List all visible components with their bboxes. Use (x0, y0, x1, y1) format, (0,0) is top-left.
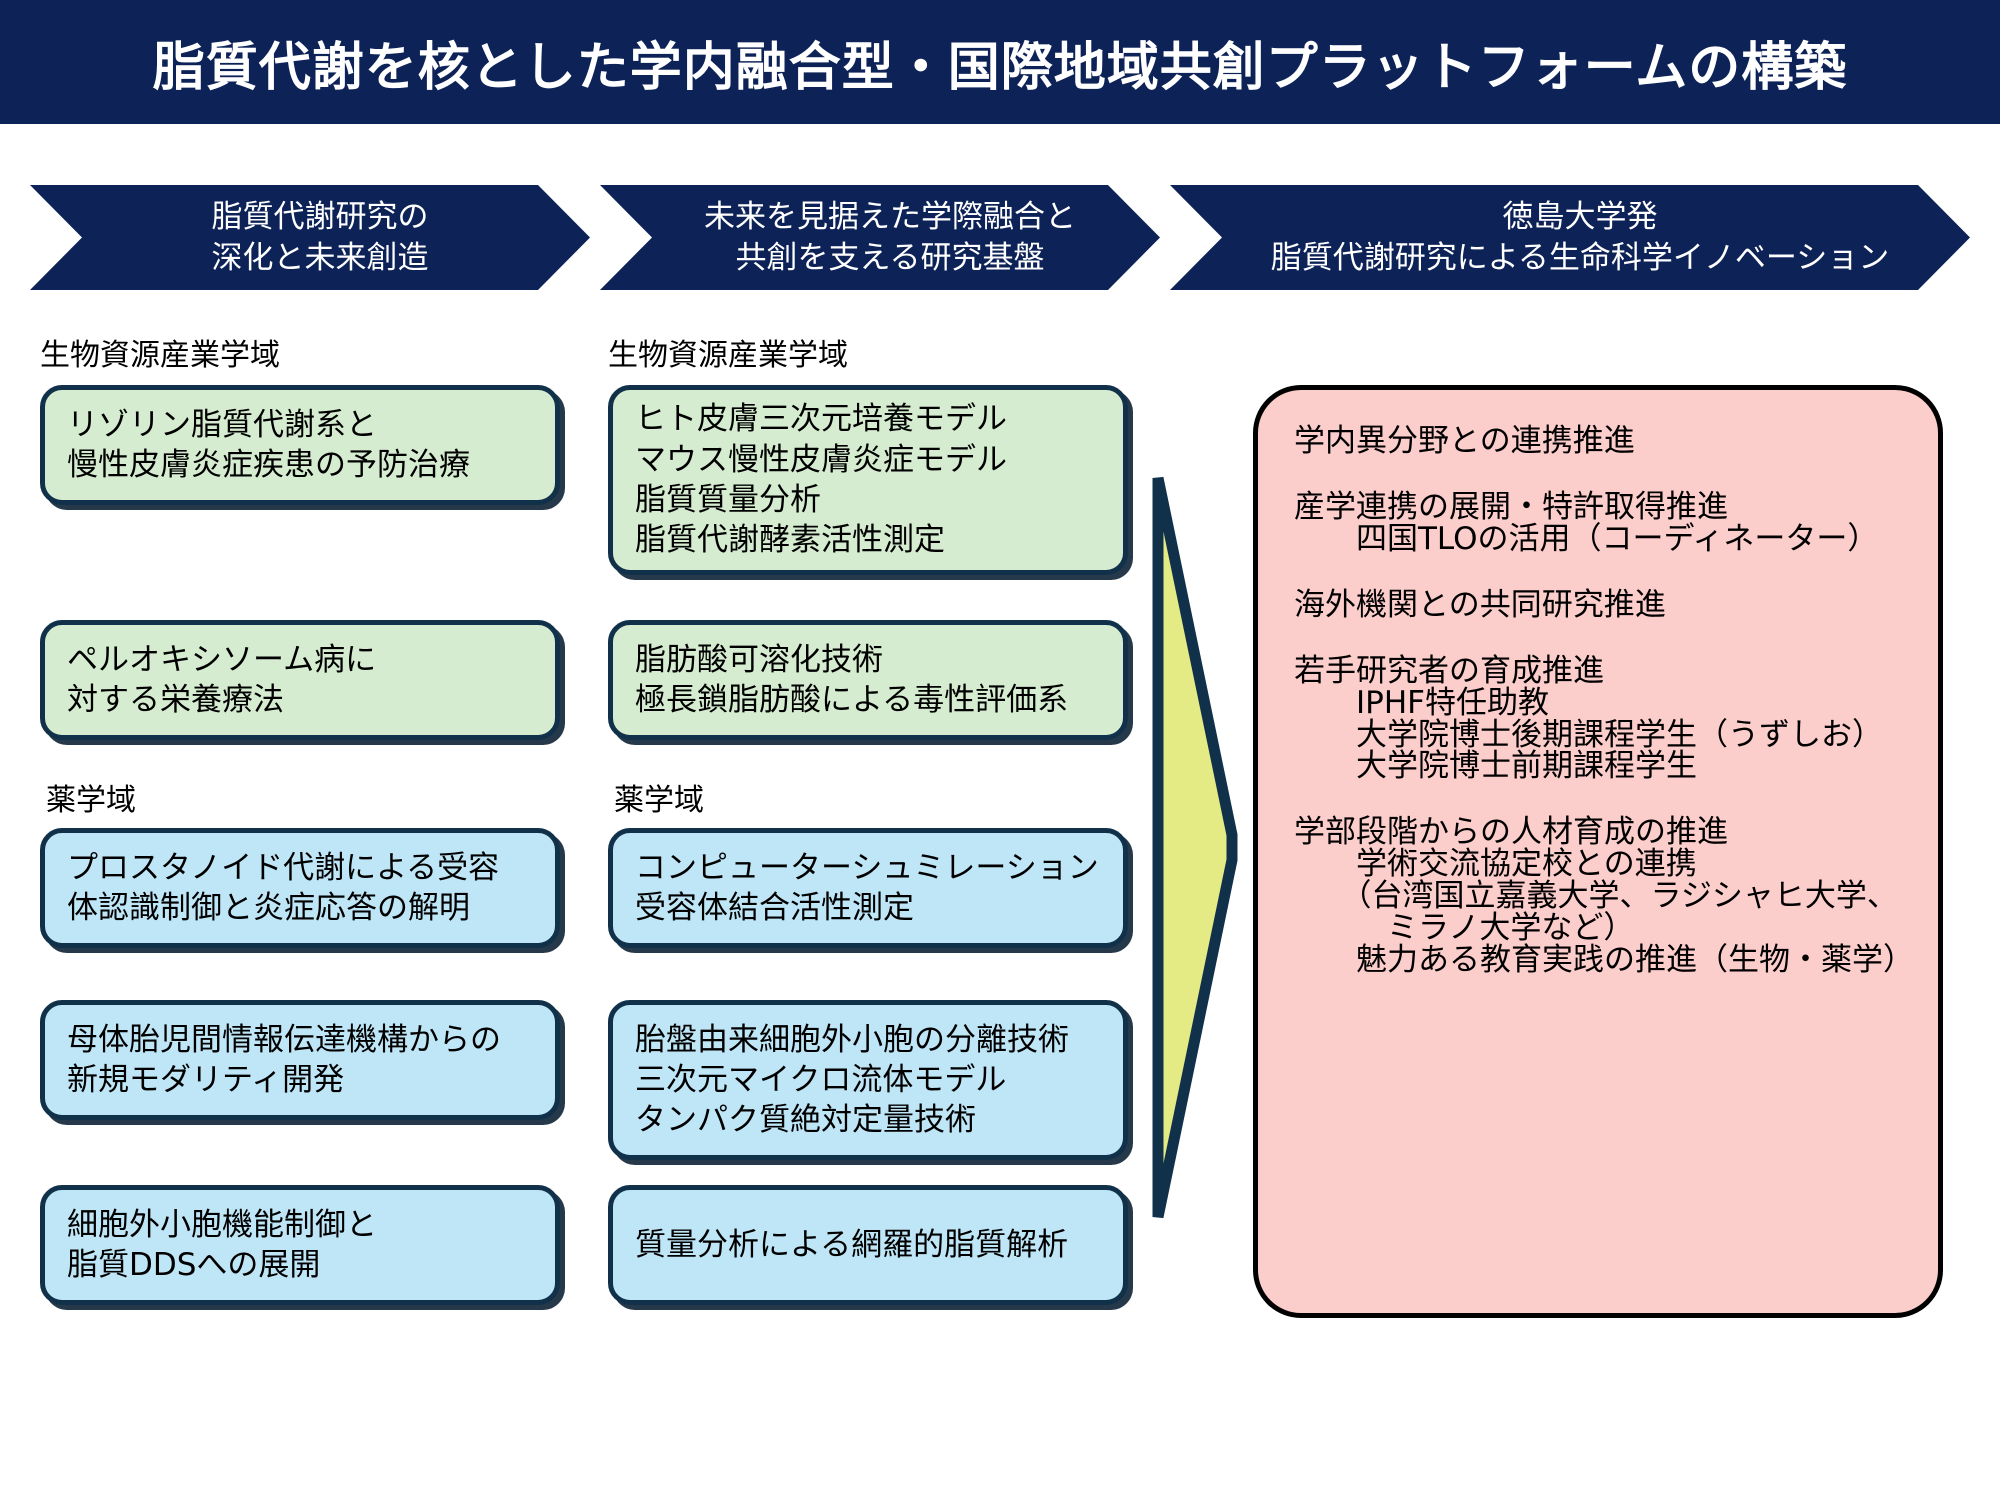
outcome-block-4-line-2: IPHF特任助教 (1294, 688, 1908, 720)
chevron-3-line-1: 徳島大学発 (1271, 197, 1889, 238)
outcome-block-1-line-1: 学内異分野との連携推進 (1294, 426, 1908, 458)
left-box-5-line-1: 細胞外小胞機能制御と (67, 1205, 377, 1245)
left-box-5-line-2: 脂質DDSへの展開 (67, 1245, 377, 1285)
middle-box-3: コンピューターシュミレーション 受容体結合活性測定 (608, 828, 1128, 948)
right-arrow-shape (1150, 470, 1240, 1225)
middle-box-2-line-1: 脂肪酸可溶化技術 (635, 640, 1068, 680)
middle-box-3-line-1: コンピューターシュミレーション (635, 848, 1099, 888)
middle-box-1: ヒト皮膚三次元培養モデル マウス慢性皮膚炎症モデル 脂質質量分析 脂質代謝酵素活… (608, 385, 1128, 575)
middle-column-heading-bioresource: 生物資源産業学域 (608, 330, 848, 374)
outcome-block-5-line-5: 魅力ある教育実践の推進（生物・薬学） (1294, 945, 1908, 977)
page-title: 脂質代謝を核とした学内融合型・国際地域共創プラットフォームの構築 (153, 25, 1847, 100)
outcome-block-2-line-2: 四国TLOの活用（コーディネーター） (1294, 524, 1908, 556)
chevron-2-line-1: 未来を見据えた学際融合と (704, 197, 1076, 238)
left-box-1: リゾリン脂質代謝系と 慢性皮膚炎症疾患の予防治療 (40, 385, 560, 505)
middle-column-heading-pharmacy: 薬学域 (614, 775, 704, 819)
left-box-2-line-1: ペルオキシソーム病に (67, 640, 376, 680)
outcomes-panel: 学内異分野との連携推進 産学連携の展開・特許取得推進 四国TLOの活用（コーディ… (1253, 385, 1943, 1318)
outcome-block-4-line-4: 大学院博士前期課程学生 (1294, 751, 1908, 783)
left-column-heading-bioresource: 生物資源産業学域 (40, 330, 280, 374)
left-box-3-line-1: プロスタノイド代謝による受容 (67, 848, 499, 888)
outcome-block-5-line-3: （台湾国立嘉義大学、ラジシャヒ大学、 (1294, 881, 1908, 913)
chevron-1-line-2: 深化と未来創造 (212, 238, 429, 279)
middle-box-3-line-2: 受容体結合活性測定 (635, 888, 1099, 928)
left-box-3: プロスタノイド代謝による受容 体認識制御と炎症応答の解明 (40, 828, 560, 948)
middle-box-5-line-1: 質量分析による網羅的脂質解析 (635, 1225, 1068, 1265)
middle-box-2: 脂肪酸可溶化技術 極長鎖脂肪酸による毒性評価系 (608, 620, 1128, 740)
middle-box-1-line-3: 脂質質量分析 (635, 480, 1007, 520)
slide-canvas: 脂質代謝を核とした学内融合型・国際地域共創プラットフォームの構築 脂質代謝研究の… (0, 0, 2000, 1500)
spacer-4 (1294, 783, 1908, 817)
outcome-block-4-line-3: 大学院博士後期課程学生（うずしお） (1294, 720, 1908, 752)
left-box-4-line-1: 母体胎児間情報伝達機構からの (67, 1020, 501, 1060)
chevron-stage-1: 脂質代謝研究の 深化と未来創造 (30, 185, 590, 290)
outcome-block-3-line-1: 海外機関との共同研究推進 (1294, 590, 1908, 622)
left-box-2: ペルオキシソーム病に 対する栄養療法 (40, 620, 560, 740)
title-bar: 脂質代謝を核とした学内融合型・国際地域共創プラットフォームの構築 (0, 0, 2000, 124)
outcome-block-5-line-4: ミラノ大学など） (1294, 913, 1908, 945)
left-box-1-line-1: リゾリン脂質代謝系と (67, 405, 470, 445)
middle-box-5: 質量分析による網羅的脂質解析 (608, 1185, 1128, 1305)
middle-box-4: 胎盤由来細胞外小胞の分離技術 三次元マイクロ流体モデル タンパク質絶対定量技術 (608, 1000, 1128, 1160)
left-box-4: 母体胎児間情報伝達機構からの 新規モダリティ開発 (40, 1000, 560, 1120)
left-box-1-line-2: 慢性皮膚炎症疾患の予防治療 (67, 445, 470, 485)
outcome-block-4-line-1: 若手研究者の育成推進 (1294, 656, 1908, 688)
middle-box-4-line-3: タンパク質絶対定量技術 (635, 1100, 1069, 1140)
outcome-block-5-line-1: 学部段階からの人材育成の推進 (1294, 817, 1908, 849)
outcome-block-5-line-2: 学術交流協定校との連携 (1294, 849, 1908, 881)
chevron-3-line-2: 脂質代謝研究による生命科学イノベーション (1271, 238, 1889, 279)
outcome-block-2-line-1: 産学連携の展開・特許取得推進 (1294, 492, 1908, 524)
spacer-2 (1294, 556, 1908, 590)
right-arrow-icon (1150, 470, 1240, 1225)
middle-box-1-line-1: ヒト皮膚三次元培養モデル (635, 399, 1007, 439)
chevron-stage-2: 未来を見据えた学際融合と 共創を支える研究基盤 (600, 185, 1160, 290)
middle-box-2-line-2: 極長鎖脂肪酸による毒性評価系 (635, 680, 1068, 720)
left-box-4-line-2: 新規モダリティ開発 (67, 1060, 501, 1100)
middle-box-1-line-4: 脂質代謝酵素活性測定 (635, 520, 1007, 560)
middle-box-4-line-2: 三次元マイクロ流体モデル (635, 1060, 1069, 1100)
middle-box-4-line-1: 胎盤由来細胞外小胞の分離技術 (635, 1020, 1069, 1060)
left-box-5: 細胞外小胞機能制御と 脂質DDSへの展開 (40, 1185, 560, 1305)
left-box-2-line-2: 対する栄養療法 (67, 680, 376, 720)
chevron-1-line-1: 脂質代謝研究の (212, 197, 429, 238)
spacer-3 (1294, 622, 1908, 656)
chevron-2-line-2: 共創を支える研究基盤 (704, 238, 1076, 279)
left-box-3-line-2: 体認識制御と炎症応答の解明 (67, 888, 499, 928)
spacer-1 (1294, 458, 1908, 492)
middle-box-1-line-2: マウス慢性皮膚炎症モデル (635, 440, 1007, 480)
left-column-heading-pharmacy: 薬学域 (46, 775, 136, 819)
chevron-stage-3: 徳島大学発 脂質代謝研究による生命科学イノベーション (1170, 185, 1970, 290)
